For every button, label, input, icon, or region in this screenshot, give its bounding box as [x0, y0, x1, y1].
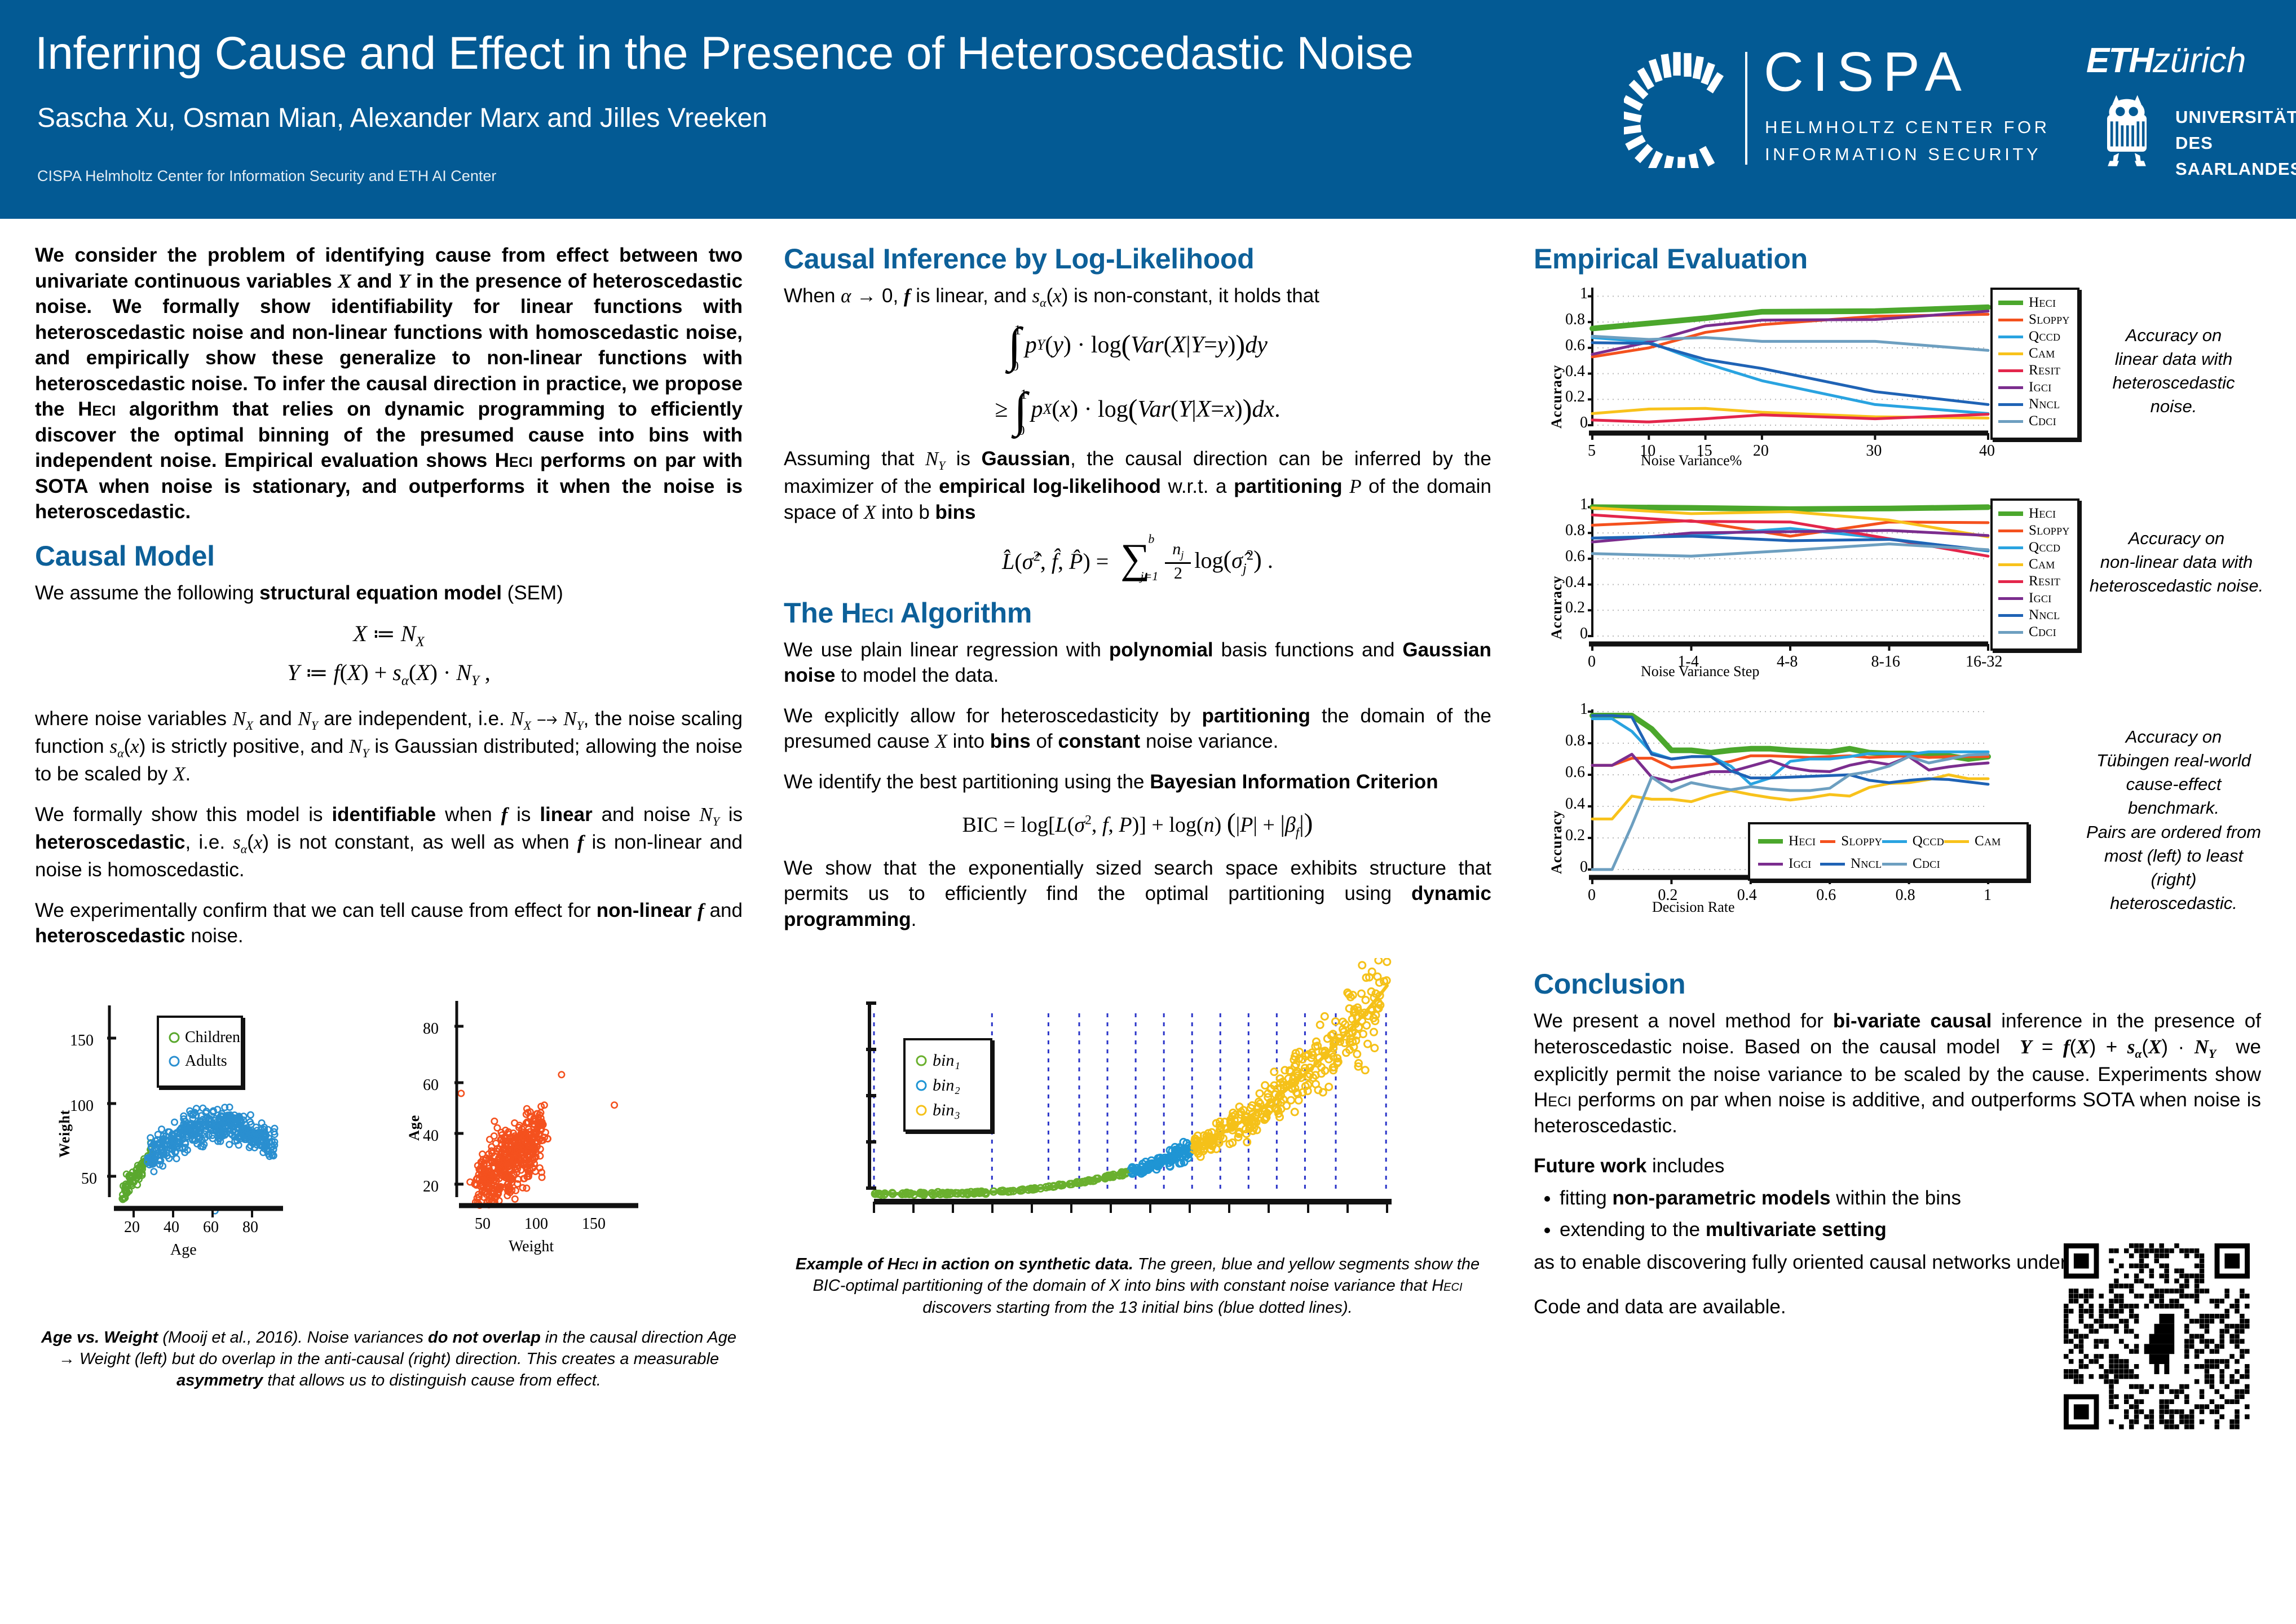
section-heading-empirical-evaluation: Empirical Evaluation	[1534, 242, 2261, 275]
legend-row: Heci	[1998, 505, 2077, 522]
scatter-age-to-weight: Weight 150 100 50 20 40 60 80 Age	[46, 972, 385, 1265]
legend-label: Cam	[1975, 833, 2001, 849]
legend-label: Igci	[2029, 590, 2052, 606]
chart2-xlabel: Noise Variance Step	[1641, 663, 1759, 680]
legend-label: Heci	[1789, 833, 1816, 849]
legend-label: Nncl	[1851, 856, 1882, 872]
legend-row: Nncl	[1820, 853, 1882, 875]
scatter-right-ytick-40: 40	[423, 1127, 439, 1145]
legend-line-swatch	[1998, 403, 2023, 406]
legend-line-swatch	[1998, 369, 2023, 372]
xtick-label: 4-8	[1777, 653, 1798, 671]
scatter-right-ytick-20: 20	[423, 1178, 439, 1196]
legend-row: Heci	[1998, 294, 2077, 311]
scatter-right-ytick-60: 60	[423, 1076, 439, 1095]
legend-row: Heci	[1758, 830, 1820, 853]
list-item: extending to the multivariate setting	[1560, 1215, 2261, 1245]
legend-line-swatch	[1998, 546, 2023, 549]
legend-line-swatch	[1998, 597, 2023, 600]
legend-line-swatch	[1944, 840, 1969, 843]
legend-line-swatch	[1998, 563, 2023, 566]
chart3-ylabel: Accuracy	[1548, 810, 1565, 874]
legend-label: Igci	[1789, 856, 1812, 872]
legend-row: Cam	[1944, 830, 2006, 853]
figure-age-weight-caption: Age vs. Weight (Mooij et al., 2016). Noi…	[35, 1327, 743, 1392]
section-heading-heci-algorithm: The Heci Algorithm	[784, 597, 1491, 629]
conclusion-bullets: fitting non-parametric models within the…	[1534, 1184, 2261, 1245]
heci-p4: We show that the exponentially sized sea…	[784, 855, 1491, 933]
scatter-right-xtick-150: 150	[582, 1215, 606, 1233]
uds-line-1: UNIVERSITÄT	[2175, 107, 2296, 127]
causal-model-p2: where noise variables NX and NY are inde…	[35, 706, 743, 787]
legend-label: Nncl	[2029, 607, 2060, 623]
legend-row: Igci	[1998, 590, 2077, 607]
scatter-left-legend: Children Adults	[157, 1016, 243, 1088]
poster-title: Inferring Cause and Effect in the Presen…	[35, 27, 1414, 80]
legend-label: Cdci	[2029, 413, 2056, 429]
legend-label: Cdci	[1913, 856, 1940, 872]
scatter-right-xtick-50: 50	[475, 1215, 491, 1233]
scatter-left-xtick-60: 60	[203, 1219, 219, 1237]
legend-label: Igci	[2029, 379, 2052, 395]
xtick-label: 5	[1588, 442, 1596, 460]
uds-line-2: DES	[2175, 133, 2213, 153]
legend-row: Cam	[1998, 345, 2077, 362]
equation-integral-top: ∫10 pY(y) · log(Var(X|Y = y)) dy	[784, 322, 1491, 368]
xtick-label: 30	[1866, 442, 1882, 460]
chart2-ylabel: Accuracy	[1548, 576, 1565, 639]
owl-icon	[2093, 92, 2161, 171]
legend-row: Igci	[1998, 379, 2077, 396]
scatter-right-ytick-80: 80	[423, 1020, 439, 1038]
legend-label: Sloppy	[2029, 312, 2070, 328]
legend-line-swatch	[1998, 420, 2023, 423]
column-left: We consider the problem of identifying c…	[35, 242, 743, 1408]
chart1-legend: HeciSloppyQccdCamResitIgciNnclCdci	[1990, 288, 2079, 440]
heci-example-legend: bin₁ bin₂ bin₃	[903, 1038, 992, 1132]
heci-p1: We use plain linear regression with poly…	[784, 637, 1491, 689]
legend-label: Qccd	[2029, 540, 2060, 555]
xtick-label: 8-16	[1871, 653, 1900, 671]
legend-label: Sloppy	[2029, 523, 2070, 539]
cispa-subline-1: HELMHOLTZ CENTER FOR	[1765, 117, 2050, 138]
chart-nonlinear-hetero: Accuracy 00.20.40.60.81 01-44-88-1616-32…	[1534, 494, 2261, 697]
scatter-right-canvas	[396, 972, 712, 1265]
scatter-left-ylabel: Weight	[56, 1109, 73, 1157]
scatter-left-xtick-40: 40	[164, 1219, 179, 1237]
uds-line-3: SAARLANDES	[2175, 159, 2296, 179]
chart-tuebingen: Accuracy 00.20.40.60.81 00.20.40.60.81 D…	[1534, 705, 2261, 942]
section-heading-conclusion: Conclusion	[1534, 968, 2261, 1000]
scatter-weight-to-age: Age 80 60 40 20 50 100 150 Weight	[396, 972, 712, 1265]
scatter-left-xlabel: Age	[170, 1241, 197, 1259]
legend-label: Resit	[2029, 573, 2060, 589]
section-heading-log-likelihood: Causal Inference by Log-Likelihood	[784, 242, 1491, 275]
chart1-ylabel: Accuracy	[1548, 365, 1565, 429]
poster-authors: Sascha Xu, Osman Mian, Alexander Marx an…	[37, 103, 767, 134]
causal-model-p4: We experimentally confirm that we can te…	[35, 898, 743, 949]
eth-uds-logo: ETHzürich UNIVERSITÄT DES SAARLANDES	[2081, 41, 2284, 176]
legend-label: Nncl	[2029, 396, 2060, 412]
legend-row: Sloppy	[1998, 311, 2077, 328]
legend-line-swatch	[1998, 352, 2023, 355]
cispa-wordmark: CISPA	[1764, 44, 1971, 99]
scatter-right-xlabel: Weight	[509, 1238, 554, 1256]
list-item: fitting non-parametric models within the…	[1560, 1184, 2261, 1213]
chart1-xlabel: Noise Variance%	[1641, 452, 1742, 469]
chart3-xlabel: Decision Rate	[1652, 899, 1735, 916]
legend-row: Resit	[1998, 573, 2077, 590]
legend-line-swatch	[1998, 614, 2023, 617]
causal-model-intro: We assume the following structural equat…	[35, 580, 743, 606]
legend-row: Cam	[1998, 556, 2077, 573]
legend-row: Cdci	[1998, 413, 2077, 430]
xtick-label: 16-32	[1966, 653, 2002, 671]
scatter-left-ytick-50: 50	[81, 1170, 97, 1188]
legend-label: Qccd	[1913, 833, 1944, 849]
legend-row: Cdci	[1998, 624, 2077, 641]
legend-line-swatch	[1820, 863, 1845, 866]
legend-label: Cdci	[2029, 624, 2056, 640]
legend-label-children: Children	[185, 1029, 240, 1047]
qr-code-icon[interactable]	[2064, 1243, 2250, 1429]
legend-row: Qccd	[1998, 539, 2077, 556]
legend-marker-bin2	[915, 1079, 928, 1092]
legend-marker-bin1	[915, 1054, 928, 1067]
heci-example-canvas	[784, 958, 1491, 1240]
legend-row: Cdci	[1882, 853, 1944, 875]
cispa-divider	[1745, 52, 1747, 165]
column-middle: Causal Inference by Log-Likelihood When …	[784, 242, 1491, 1335]
causal-model-p3: We formally show this model is identifia…	[35, 802, 743, 883]
legend-row: Qccd	[1998, 328, 2077, 345]
equation-empirical-loglik: L̂(σ̂2, f̂, P̂) = ∑ b j=1 nj 2 log(σ̂j2)…	[784, 541, 1491, 582]
legend-row: Resit	[1998, 362, 2077, 379]
legend-line-swatch	[1998, 319, 2023, 321]
chart3-note: Accuracy onTübingen real-worldcause-effe…	[2083, 725, 2264, 915]
legend-line-swatch	[1998, 580, 2023, 583]
chart3-legend: HeciSloppyQccdCamIgciNnclCdci	[1748, 822, 2029, 881]
scatter-right-xtick-100: 100	[524, 1215, 548, 1233]
legend-line-swatch	[1998, 386, 2023, 389]
xtick-label: 0.8	[1896, 886, 1915, 904]
legend-line-swatch	[1882, 863, 1907, 866]
legend-label: Cam	[2029, 346, 2055, 361]
legend-label: Sloppy	[1841, 833, 1882, 849]
heci-p2: We explicitly allow for heteroscedastici…	[784, 703, 1491, 754]
cispa-c-mark-icon	[1624, 50, 1731, 168]
xtick-label: 1	[1984, 886, 1992, 904]
scatter-left-xtick-20: 20	[124, 1219, 140, 1237]
xtick-label: 40	[1979, 442, 1995, 460]
abstract-paragraph: We consider the problem of identifying c…	[35, 242, 743, 525]
chart-linear-hetero: Accuracy 00.20.40.60.81 51015203040 Nois…	[1534, 283, 2261, 486]
legend-label-bin1: bin₁	[933, 1051, 960, 1070]
scatter-right-ylabel: Age	[406, 1114, 423, 1140]
chart2-note: Accuracy onnon-linear data withheterosce…	[2089, 527, 2264, 598]
figure-heci-example: bin₁ bin₂ bin₃	[784, 958, 1491, 1251]
legend-line-swatch	[1758, 839, 1783, 844]
legend-row: Nncl	[1998, 607, 2077, 624]
legend-marker-children	[167, 1030, 182, 1045]
legend-label: Cam	[2029, 557, 2055, 572]
scatter-left-ytick-100: 100	[70, 1097, 94, 1115]
poster-affiliation: CISPA Helmholtz Center for Information S…	[37, 167, 496, 185]
cispa-logo: CISPA HELMHOLTZ CENTER FOR INFORMATION S…	[1624, 39, 2075, 180]
figure-age-vs-weight: Weight 150 100 50 20 40 60 80 Age	[35, 972, 743, 1332]
legend-label-adults: Adults	[185, 1052, 227, 1070]
xtick-label: 0	[1588, 653, 1596, 671]
loglik-p2: Assuming that NY is Gaussian, the causal…	[784, 446, 1491, 525]
legend-line-swatch	[1998, 301, 2023, 305]
scatter-left-ytick-150: 150	[70, 1032, 94, 1050]
xtick-label: 0	[1588, 886, 1596, 904]
legend-row: Sloppy	[1998, 522, 2077, 539]
legend-line-swatch	[1998, 511, 2023, 516]
legend-line-swatch	[1758, 863, 1783, 866]
column-right: Empirical Evaluation Accuracy 00.20.40.6…	[1534, 242, 2261, 1335]
legend-line-swatch	[1998, 631, 2023, 634]
xtick-label: 0.4	[1737, 886, 1757, 904]
equation-bic: BIC = log[L(σ2, f, P)] + log(n) (|P| + |…	[784, 808, 1491, 841]
legend-row: Igci	[1758, 853, 1820, 875]
cispa-subline-2: INFORMATION SECURITY	[1765, 144, 2041, 165]
legend-line-swatch	[1820, 840, 1835, 843]
heci-p3: We identify the best partitioning using …	[784, 769, 1491, 795]
legend-marker-adults	[167, 1054, 182, 1069]
legend-label: Heci	[2029, 506, 2056, 522]
xtick-label: 0.6	[1816, 886, 1836, 904]
loglik-intro: When α → 0, f is linear, and sα(x) is no…	[784, 283, 1491, 311]
legend-label: Heci	[2029, 295, 2056, 311]
figure-heci-example-caption: Example of Heci in action on synthetic d…	[784, 1254, 1491, 1318]
legend-label: Qccd	[2029, 329, 2060, 345]
chart2-legend: HeciSloppyQccdCamResitIgciNnclCdci	[1990, 498, 2079, 651]
legend-line-swatch	[1998, 529, 2023, 532]
equation-sem-x: X ≔ NX	[35, 620, 743, 650]
legend-label-bin3: bin₃	[933, 1101, 960, 1120]
legend-row: Qccd	[1882, 830, 1944, 853]
legend-row: Nncl	[1998, 396, 2077, 413]
equation-integral-bottom: ≥ ∫10 pX(x) · log(Var(Y|X = x)) dx .	[784, 387, 1491, 433]
conclusion-future-lead: Future work includes	[1534, 1153, 2261, 1179]
equation-sem-y: Y ≔ f(X) + sα(X) · NY ,	[35, 659, 743, 689]
legend-marker-bin3	[915, 1104, 928, 1117]
legend-line-swatch	[1882, 840, 1907, 843]
poster-header: Inferring Cause and Effect in the Presen…	[0, 0, 2296, 219]
section-heading-causal-model: Causal Model	[35, 540, 743, 572]
legend-label: Resit	[2029, 363, 2060, 378]
legend-line-swatch	[1998, 336, 2023, 338]
scatter-left-xtick-80: 80	[242, 1219, 258, 1237]
xtick-label: 20	[1753, 442, 1769, 460]
legend-label-bin2: bin₂	[933, 1076, 960, 1095]
chart1-note: Accuracy onlinear data withheteroscedast…	[2089, 324, 2258, 419]
conclusion-p1: We present a novel method for bi-variate…	[1534, 1008, 2261, 1138]
eth-zurich-wordmark: ETHzürich	[2086, 41, 2246, 81]
legend-row: Sloppy	[1820, 830, 1882, 853]
